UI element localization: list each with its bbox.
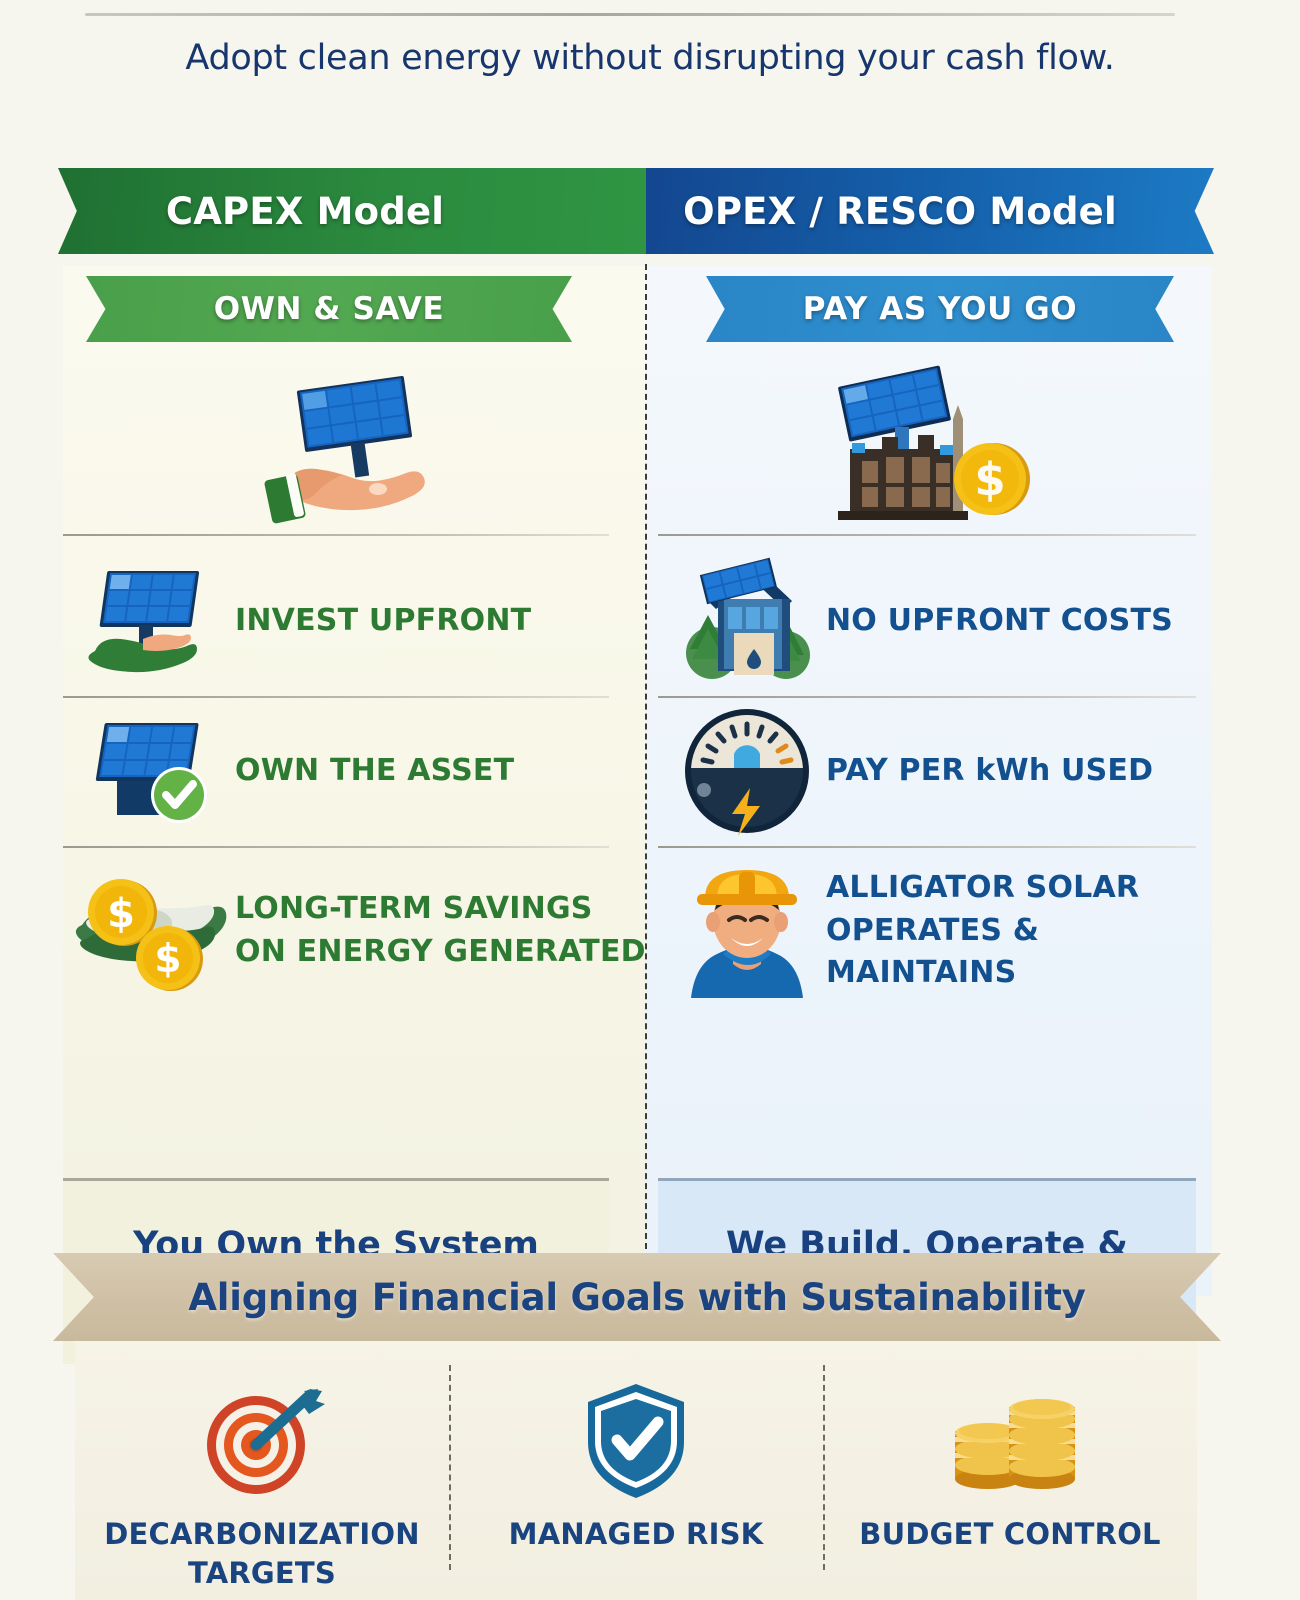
capex-feature-2-label: OWN THE ASSET: [235, 750, 514, 793]
solar-panel-check-icon: [77, 709, 235, 833]
top-divider-rule: [85, 13, 1175, 16]
bottom-banner: Aligning Financial Goals with Sustainabi…: [53, 1253, 1221, 1341]
capex-feature-3-line2: ON ENERGY GENERATED: [235, 934, 646, 969]
bottom-benefit-list: DECARBONIZATION TARGETS MANAGED RISK: [75, 1357, 1197, 1600]
capex-feature-1-label: INVEST UPFRONT: [235, 600, 531, 643]
decarbonization-line2: TARGETS: [188, 1556, 336, 1590]
shield-check-icon: [581, 1379, 691, 1503]
factory-solar-dollar-coin-icon: $: [822, 361, 1037, 533]
capex-feature-2: OWN THE ASSET: [63, 696, 646, 846]
house-with-solar-roof-icon: [668, 559, 826, 683]
comparison-columns: CAPEX Model OPEX / RESCO Model OWN & SAV…: [0, 168, 1300, 1198]
svg-text:$: $: [154, 937, 181, 982]
decarbonization-line1: DECARBONIZATION: [104, 1517, 419, 1551]
coin-stacks-icon: [939, 1379, 1081, 1503]
capex-subtitle-banner: OWN & SAVE: [86, 276, 572, 342]
svg-text:$: $: [974, 453, 1005, 506]
capex-hero: [63, 358, 646, 536]
bottom-section: Aligning Financial Goals with Sustainabi…: [0, 1245, 1300, 1600]
energy-meter-gauge-icon: [668, 709, 826, 833]
bottom-benefit-managed-risk: MANAGED RISK: [449, 1357, 823, 1600]
page-headline: Adopt clean energy without disrupting yo…: [0, 38, 1300, 78]
capex-model-banner: CAPEX Model: [58, 168, 646, 254]
bottom-banner-title: Aligning Financial Goals with Sustainabi…: [188, 1276, 1085, 1319]
opex-feature-1-label: NO UPFRONT COSTS: [826, 600, 1173, 643]
capex-feature-3: $ $ LONG-TERM SAVINGS ON ENERGY GENERATE…: [63, 846, 646, 1016]
hand-holding-solar-panel-icon: [260, 365, 450, 530]
opex-model-banner: OPEX / RESCO Model: [646, 168, 1214, 254]
capex-feature-3-line1: LONG-TERM SAVINGS: [235, 891, 593, 926]
capex-feature-3-label: LONG-TERM SAVINGS ON ENERGY GENERATED: [235, 888, 646, 973]
worker-hard-hat-icon: [668, 869, 826, 993]
opex-feature-1: NO UPFRONT COSTS: [646, 546, 1212, 696]
opex-subtitle-banner: PAY AS YOU GO: [706, 276, 1174, 342]
bottom-benefit-decarbonization-label: DECARBONIZATION TARGETS: [104, 1515, 419, 1593]
opex-feature-3-line2: OPERATES & MAINTAINS: [826, 913, 1039, 991]
bottom-benefit-budget-control: BUDGET CONTROL: [823, 1357, 1197, 1600]
opex-feature-3-line1: ALLIGATOR SOLAR: [826, 870, 1139, 905]
bottom-benefit-decarbonization: DECARBONIZATION TARGETS: [75, 1357, 449, 1600]
opex-feature-3: ALLIGATOR SOLAR OPERATES & MAINTAINS: [646, 846, 1212, 1016]
opex-feature-3-label: ALLIGATOR SOLAR OPERATES & MAINTAINS: [826, 867, 1212, 995]
cash-with-coins-icon: $ $: [77, 869, 235, 993]
solar-panel-on-hand-icon: [77, 559, 235, 683]
target-dart-icon: [200, 1379, 324, 1503]
opex-hero: $: [646, 358, 1212, 536]
bottom-benefit-managed-risk-label: MANAGED RISK: [509, 1515, 764, 1554]
bottom-benefit-budget-control-label: BUDGET CONTROL: [859, 1515, 1160, 1554]
svg-text:$: $: [107, 891, 135, 937]
capex-feature-1: INVEST UPFRONT: [63, 546, 646, 696]
opex-feature-2: PAY PER kWh USED: [646, 696, 1212, 846]
opex-feature-2-label: PAY PER kWh USED: [826, 750, 1153, 793]
opex-row-separator-1: [658, 534, 1196, 536]
capex-row-separator-1: [63, 534, 609, 536]
